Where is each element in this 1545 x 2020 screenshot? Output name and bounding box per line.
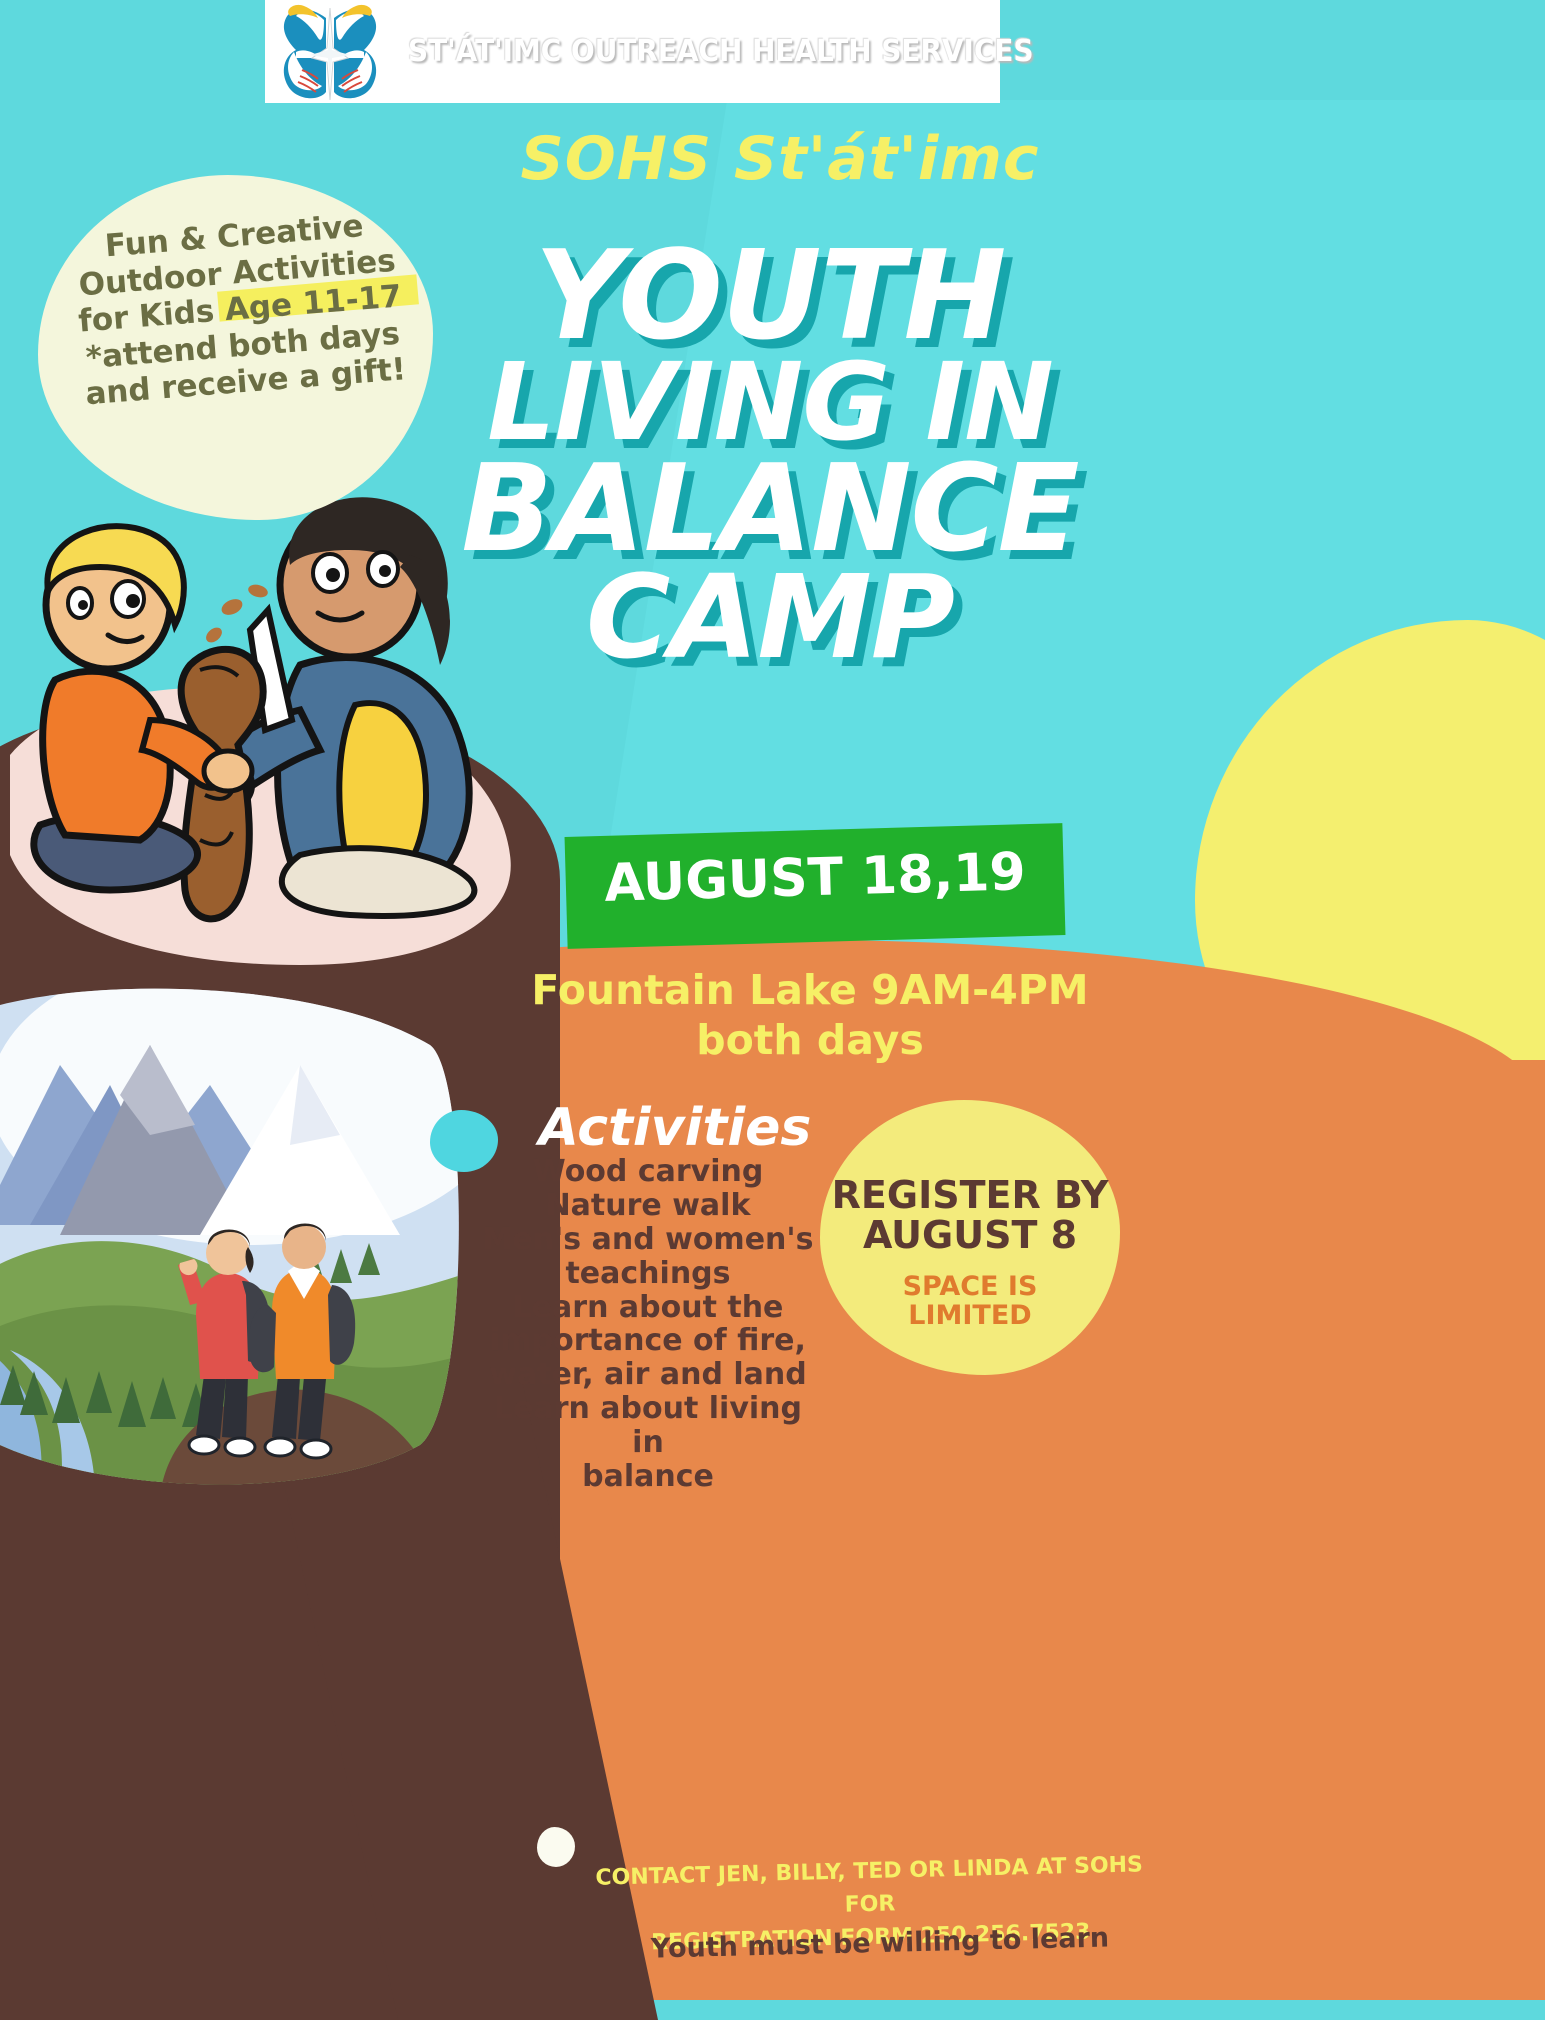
list-item: water, air and land [478,1358,818,1392]
cream-accent-dot [537,1827,575,1867]
location-info: Fountain Lake 9AM-4PM both days [520,965,1100,1065]
activities-heading: Activities [500,1098,850,1158]
list-item: Learn about living in [478,1392,818,1460]
title-line-3: BALANCE [440,454,1100,566]
info-bubble-text: Fun & Creative Outdoor Activities for Ki… [48,204,431,415]
register-note-1: SPACE IS [805,1272,1135,1301]
list-item: Learn about the [478,1291,818,1325]
hiking-nature-illustration [0,975,470,1485]
register-line-1: REGISTER BY [805,1176,1135,1216]
title-line-1: YOUTH [440,240,1100,354]
location-line-2: both days [520,1015,1100,1065]
statimc-eagle-butterfly-logo [270,0,390,103]
page-title: YOUTH LIVING IN BALANCE CAMP [440,240,1100,672]
register-note: SPACE IS LIMITED [805,1272,1135,1330]
list-item: Nature walk [478,1189,818,1223]
register-note-2: LIMITED [805,1301,1135,1330]
location-line-1: Fountain Lake 9AM-4PM [520,965,1100,1015]
list-item: importance of fire, [478,1324,818,1358]
title-line-2: LIVING IN [440,354,1100,454]
header-title: ST'ÁT'IMC OUTREACH HEALTH SERVICES [408,34,1034,69]
register-title: REGISTER BY AUGUST 8 [805,1176,1135,1255]
kicker-title: SOHS St'át'imc [520,124,1040,194]
activities-list: Wood carving Nature walk Men's and women… [478,1155,818,1494]
list-item: balance [478,1460,818,1494]
list-item: Men's and women's [478,1223,818,1257]
title-line-4: CAMP [440,565,1100,672]
header-bar: ST'ÁT'IMC OUTREACH HEALTH SERVICES [265,0,1000,103]
list-item: teachings [478,1257,818,1291]
list-item: Wood carving [478,1155,818,1189]
register-line-2: AUGUST 8 [805,1216,1135,1256]
